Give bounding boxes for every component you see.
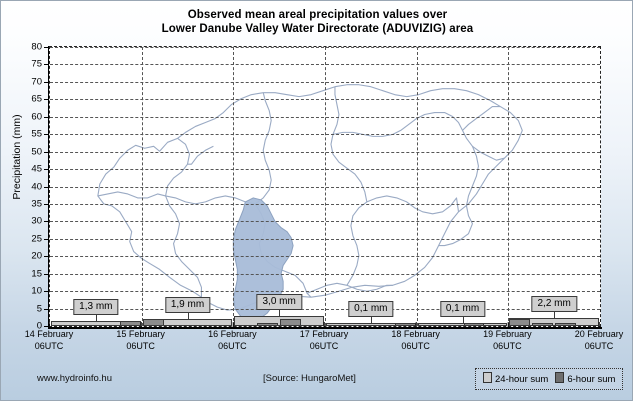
y-axis-tick-label: 80 <box>2 42 42 53</box>
value-label-connector <box>371 316 372 323</box>
x-axis-tick-mark <box>599 322 600 328</box>
x-axis-tick-mark <box>232 322 233 328</box>
y-axis-tick-label: 50 <box>2 146 42 157</box>
x-axis-tick-date: 14 February <box>25 329 74 341</box>
y-axis-tick-label: 60 <box>2 111 42 122</box>
y-axis-tick-label: 25 <box>2 233 42 244</box>
x-axis-tick-time: 06UTC <box>208 341 257 353</box>
y-axis-tick-label: 5 <box>2 303 42 314</box>
bar-6h-sum[interactable] <box>280 319 301 326</box>
y-axis: 05101520253035404550556065707580 <box>1 46 49 327</box>
gridline-vertical <box>508 47 509 326</box>
legend-label-6h: 6-hour sum <box>567 374 615 385</box>
x-axis-tick-time: 06UTC <box>575 341 624 353</box>
gridline-vertical <box>142 47 143 326</box>
title-line-2: Lower Danube Valley Water Directorate (A… <box>1 22 633 36</box>
legend-swatch-6h-icon <box>555 372 564 383</box>
x-axis: 14 February06UTC15 February06UTC16 Febru… <box>1 329 633 359</box>
x-axis-tick-mark <box>507 322 508 328</box>
x-axis-tick-time: 06UTC <box>25 341 74 353</box>
bar-6h-sum[interactable] <box>532 323 553 326</box>
x-axis-tick-mark <box>324 322 325 328</box>
value-label-connector <box>188 312 189 319</box>
y-axis-tick-label: 20 <box>2 251 42 262</box>
gridline-vertical <box>325 47 326 326</box>
x-axis-tick-label: 20 February06UTC <box>575 329 624 352</box>
bar-24h-sum[interactable] <box>418 323 508 326</box>
y-axis-tick-label: 35 <box>2 198 42 209</box>
x-axis-tick-mark <box>141 322 142 328</box>
legend-swatch-24h-icon <box>483 372 492 383</box>
legend-label-24h: 24-hour sum <box>495 374 548 385</box>
bar-value-label: 0,1 mm <box>348 301 393 317</box>
value-label-connector <box>554 311 555 318</box>
x-axis-tick-time: 06UTC <box>483 341 532 353</box>
bar-6h-sum[interactable] <box>257 323 278 326</box>
x-axis-tick-date: 15 February <box>116 329 165 341</box>
chart-legend: 24-hour sum6-hour sum <box>475 368 623 390</box>
title-line-1: Observed mean areal precipitation values… <box>1 8 633 22</box>
bar-6h-sum[interactable] <box>464 323 485 326</box>
chart-window: Observed mean areal precipitation values… <box>0 0 633 401</box>
x-axis-tick-label: 16 February06UTC <box>208 329 257 352</box>
x-axis-tick-mark <box>49 322 50 328</box>
x-axis-tick-mark <box>416 322 417 328</box>
gridline-vertical <box>233 47 234 326</box>
value-label-connector <box>96 314 97 321</box>
x-axis-tick-label: 19 February06UTC <box>483 329 532 352</box>
data-source-label: [Source: HungaroMet] <box>263 373 356 384</box>
y-axis-tick-label: 70 <box>2 76 42 87</box>
bar-24h-sum[interactable] <box>234 316 324 326</box>
bar-6h-sum[interactable] <box>395 323 416 326</box>
x-axis-tick-date: 20 February <box>575 329 624 341</box>
x-axis-tick-time: 06UTC <box>391 341 440 353</box>
x-axis-tick-label: 17 February06UTC <box>300 329 349 352</box>
bar-value-label: 0,1 mm <box>440 301 485 317</box>
y-axis-tick-label: 40 <box>2 181 42 192</box>
bar-6h-sum[interactable] <box>555 323 576 326</box>
bar-value-label: 2,2 mm <box>531 296 576 312</box>
x-axis-tick-time: 06UTC <box>300 341 349 353</box>
bar-6h-sum[interactable] <box>509 319 530 326</box>
x-axis-tick-date: 18 February <box>391 329 440 341</box>
x-axis-tick-label: 14 February06UTC <box>25 329 74 352</box>
x-axis-tick-label: 18 February06UTC <box>391 329 440 352</box>
y-axis-tick-label: 65 <box>2 94 42 105</box>
x-axis-tick-label: 15 February06UTC <box>116 329 165 352</box>
y-axis-tick-label: 45 <box>2 164 42 175</box>
website-link[interactable]: www.hydroinfo.hu <box>37 373 112 384</box>
x-axis-tick-date: 19 February <box>483 329 532 341</box>
x-axis-tick-date: 16 February <box>208 329 257 341</box>
x-axis-tick-time: 06UTC <box>116 341 165 353</box>
page-title: Observed mean areal precipitation values… <box>1 8 633 36</box>
plot-area: 1,3 mm1,9 mm3,0 mm0,1 mm0,1 mm2,2 mm <box>49 46 601 327</box>
y-axis-tick-label: 55 <box>2 129 42 140</box>
footer: www.hydroinfo.hu [Source: HungaroMet] 24… <box>1 359 633 402</box>
bar-value-label: 1,9 mm <box>165 297 210 313</box>
y-axis-tick-label: 15 <box>2 268 42 279</box>
bar-value-label: 1,3 mm <box>73 299 118 315</box>
y-axis-tick-label: 30 <box>2 216 42 227</box>
bar-6h-sum[interactable] <box>143 319 164 326</box>
y-axis-tick-label: 75 <box>2 59 42 70</box>
bar-6h-sum[interactable] <box>120 321 141 326</box>
y-axis-tick-label: 10 <box>2 286 42 297</box>
value-label-connector <box>463 316 464 323</box>
gridline-vertical <box>417 47 418 326</box>
bar-value-label: 3,0 mm <box>256 294 301 310</box>
value-label-connector <box>279 309 280 316</box>
x-axis-tick-date: 17 February <box>300 329 349 341</box>
